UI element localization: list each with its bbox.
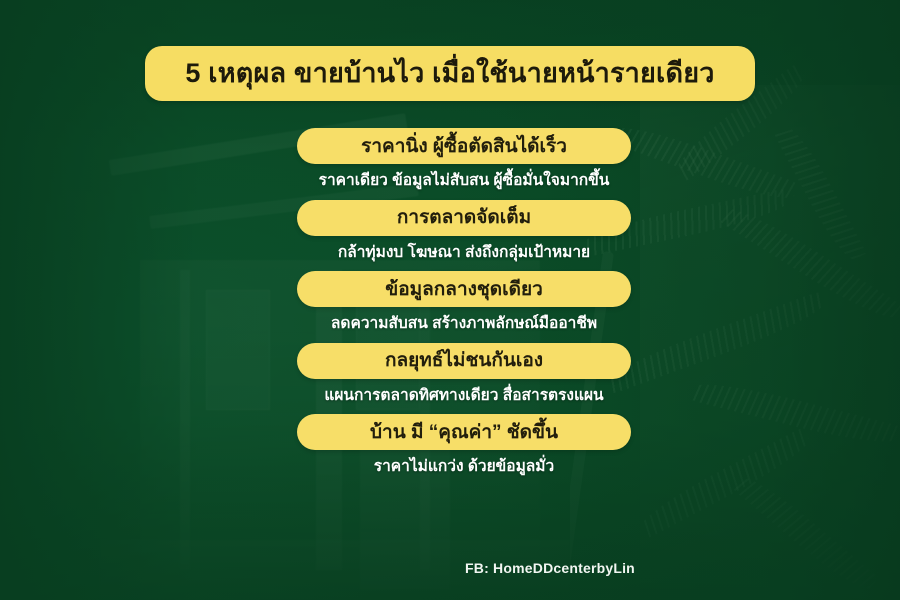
footer: FB: HomeDDcenterbyLin — [0, 560, 900, 578]
reason-pill-5: บ้าน มี “คุณค่า” ชัดขึ้น — [297, 414, 631, 450]
poster-content: 5 เหตุผล ขายบ้านไว เมื่อใช้นายหน้ารายเดี… — [0, 0, 900, 600]
poster-canvas: 5 เหตุผล ขายบ้านไว เมื่อใช้นายหน้ารายเดี… — [0, 0, 900, 600]
list-item: การตลาดจัดเต็ม กล้าทุ่มงบ โฆษณา ส่งถึงกล… — [0, 200, 900, 261]
page-title: 5 เหตุผล ขายบ้านไว เมื่อใช้นายหน้ารายเดี… — [185, 60, 714, 87]
list-item: บ้าน มี “คุณค่า” ชัดขึ้น ราคาไม่แกว่ง ด้… — [0, 414, 900, 475]
list-item: ราคานิ่ง ผู้ซื้อตัดสินได้เร็ว ราคาเดียว … — [0, 128, 900, 189]
list-item: กลยุทธ์ไม่ชนกันเอง แผนการตลาดทิศทางเดียว… — [0, 343, 900, 404]
reason-pill-2: การตลาดจัดเต็ม — [297, 200, 631, 236]
list-item: ข้อมูลกลางชุดเดียว ลดความสับสน สร้างภาพล… — [0, 271, 900, 332]
reason-caption-1: ราคาเดียว ข้อมูลไม่สับสน ผู้ซื้อมั่นใจมา… — [319, 173, 610, 189]
reason-pill-4: กลยุทธ์ไม่ชนกันเอง — [297, 343, 631, 379]
reason-caption-5: ราคาไม่แกว่ง ด้วยข้อมูลมั่ว — [374, 459, 554, 475]
reason-caption-3: ลดความสับสน สร้างภาพลักษณ์มืออาชีพ — [331, 316, 597, 332]
reason-pill-label: บ้าน มี “คุณค่า” ชัดขึ้น — [370, 423, 558, 442]
reason-pill-label: กลยุทธ์ไม่ชนกันเอง — [385, 351, 543, 370]
reason-pill-label: ข้อมูลกลางชุดเดียว — [385, 280, 543, 299]
reason-pill-1: ราคานิ่ง ผู้ซื้อตัดสินได้เร็ว — [297, 128, 631, 164]
reason-caption-2: กล้าทุ่มงบ โฆษณา ส่งถึงกลุ่มเป้าหมาย — [338, 245, 590, 261]
facebook-handle: FB: HomeDDcenterbyLin — [465, 560, 635, 576]
reason-pill-label: การตลาดจัดเต็ม — [397, 208, 531, 227]
headline-banner: 5 เหตุผล ขายบ้านไว เมื่อใช้นายหน้ารายเดี… — [145, 46, 755, 101]
reason-list: ราคานิ่ง ผู้ซื้อตัดสินได้เร็ว ราคาเดียว … — [0, 128, 900, 486]
reason-caption-4: แผนการตลาดทิศทางเดียว สื่อสารตรงแผน — [324, 388, 603, 404]
reason-pill-3: ข้อมูลกลางชุดเดียว — [297, 271, 631, 307]
reason-pill-label: ราคานิ่ง ผู้ซื้อตัดสินได้เร็ว — [361, 137, 567, 156]
